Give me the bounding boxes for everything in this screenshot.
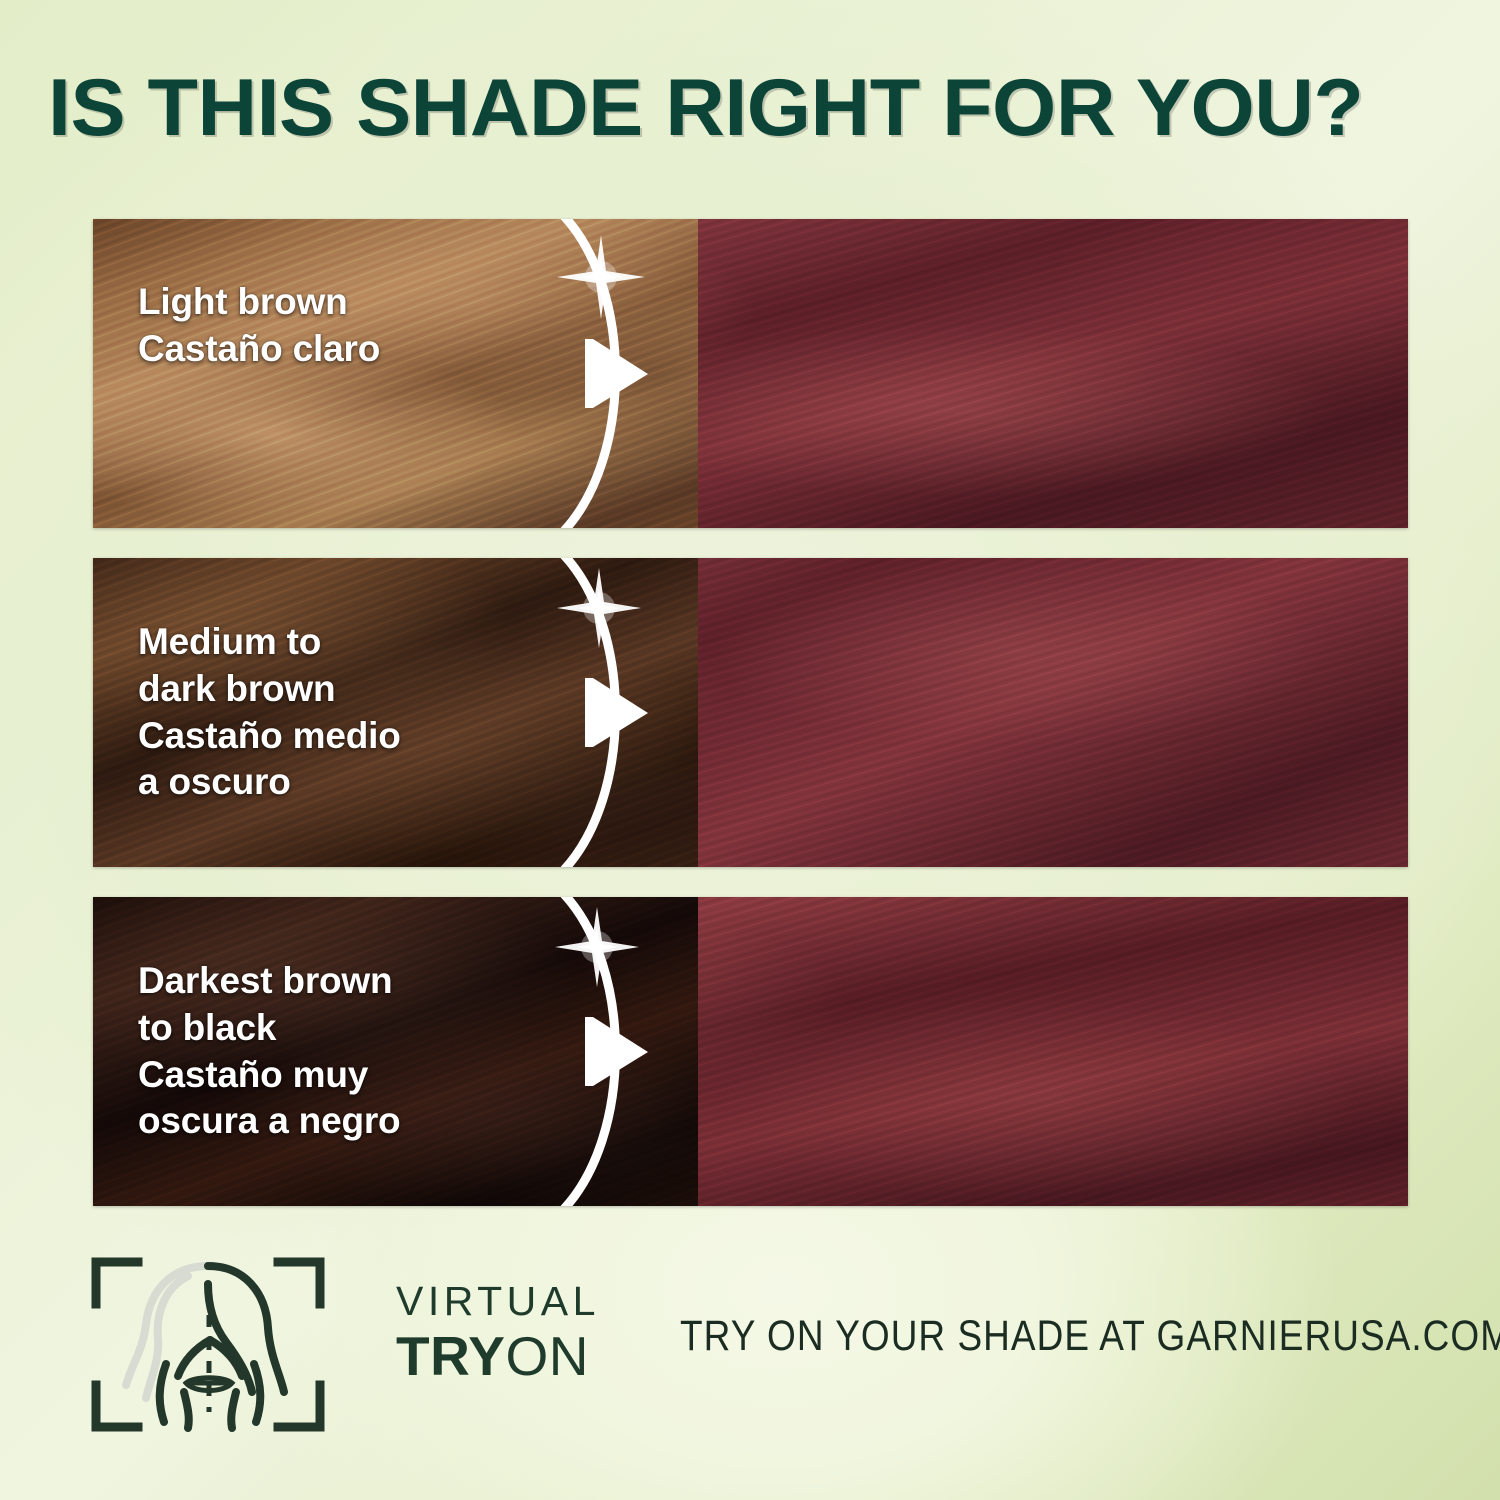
shade-panel-medium-dark-brown[interactable]: Medium to dark brown Castaño medio a osc… <box>93 558 1408 867</box>
shade-labels-3: Darkest brown to black Castaño muy oscur… <box>138 897 400 1206</box>
promo-canvas: IS THIS SHADE RIGHT FOR YOU? <box>0 0 1500 1500</box>
wordmark-try: TRY <box>396 1325 505 1387</box>
shade-panel-darkest-brown-black[interactable]: Darkest brown to black Castaño muy oscur… <box>93 897 1408 1206</box>
shade-panel-light-brown[interactable]: Light brown Castaño claro <box>93 219 1408 528</box>
footer: VIRTUAL TRYON TRY ON YOUR SHADE AT GARNI… <box>88 1252 1428 1442</box>
label-en-2b: dark brown <box>138 666 401 713</box>
label-en-1: Light brown <box>138 279 380 326</box>
virtual-try-on-wordmark: VIRTUAL TRYON <box>396 1280 600 1386</box>
wordmark-on: ON <box>505 1325 589 1387</box>
virtual-try-on-face-scan-icon <box>88 1252 328 1437</box>
label-es-3a: Castaño muy <box>138 1052 400 1099</box>
label-es-3b: oscura a negro <box>138 1098 400 1145</box>
label-es-1: Castaño claro <box>138 326 380 373</box>
wordmark-virtual: VIRTUAL <box>396 1280 600 1323</box>
footer-cta-text: TRY ON YOUR SHADE AT GARNIERUSA.COM <box>680 1312 1500 1361</box>
shade-comparison-panels: Light brown Castaño claro <box>93 219 1408 1236</box>
shade-labels-2: Medium to dark brown Castaño medio a osc… <box>138 558 401 867</box>
page-title: IS THIS SHADE RIGHT FOR YOU? <box>48 68 1496 149</box>
label-en-3b: to black <box>138 1005 400 1052</box>
label-es-2a: Castaño medio <box>138 713 401 760</box>
label-en-3a: Darkest brown <box>138 958 400 1005</box>
label-es-2b: a oscuro <box>138 759 401 806</box>
shade-labels-1: Light brown Castaño claro <box>138 219 380 528</box>
label-en-2a: Medium to <box>138 619 401 666</box>
